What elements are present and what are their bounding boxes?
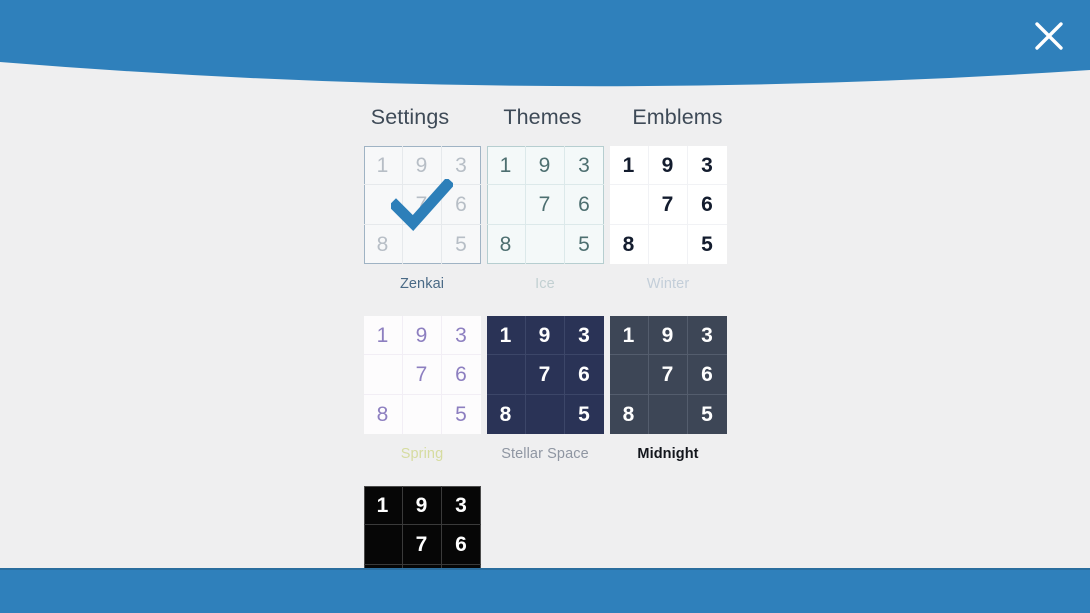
grid-cell: 1	[487, 146, 526, 185]
theme-option-stellar-space[interactable]: 1 9 3 7 6 8 5 Stellar Space	[487, 316, 604, 462]
grid-cell: 5	[442, 395, 481, 434]
grid-cell: 6	[688, 355, 727, 394]
grid-cell: 5	[565, 225, 604, 264]
grid-cell	[610, 185, 649, 224]
theme-preview-grid[interactable]: 1 9 3 7 6 8 5	[610, 146, 727, 264]
grid-cell	[364, 525, 403, 564]
grid-cell	[487, 185, 526, 224]
grid-cell: 7	[403, 185, 442, 224]
theme-option-winter[interactable]: 1 9 3 7 6 8 5 Winter	[610, 146, 727, 292]
tab-settings[interactable]: Settings	[340, 105, 480, 130]
theme-option-midnight[interactable]: 1 9 3 7 6 8 5 Midnight	[610, 316, 727, 462]
grid-cell	[487, 355, 526, 394]
theme-picker-dialog: Settings Themes Emblems 1 9 3 7 6 8 5	[0, 0, 1090, 613]
theme-preview-grid[interactable]: 1 9 3 7 6 8 5	[487, 316, 604, 434]
grid-cell: 6	[442, 185, 481, 224]
grid-cell: 7	[403, 525, 442, 564]
tab-emblems[interactable]: Emblems	[605, 105, 750, 130]
grid-cell: 3	[688, 146, 727, 185]
grid-cell: 7	[649, 355, 688, 394]
grid-cell: 1	[364, 316, 403, 355]
grid-cell: 5	[442, 225, 481, 264]
grid-cell: 7	[526, 185, 565, 224]
dialog-header	[0, 0, 1090, 96]
grid-cell: 9	[649, 316, 688, 355]
grid-cell: 9	[526, 316, 565, 355]
theme-row: 1 9 3 7 6 8 5 Zenkai	[0, 146, 1090, 292]
grid-cell	[649, 225, 688, 264]
theme-option-ice[interactable]: 1 9 3 7 6 8 5 Ice	[487, 146, 604, 292]
grid-cell	[526, 395, 565, 434]
grid-cell: 6	[442, 525, 481, 564]
grid-cell: 7	[649, 185, 688, 224]
theme-label: Winter	[610, 276, 727, 292]
close-button[interactable]	[1029, 16, 1069, 56]
grid-cell: 5	[565, 395, 604, 434]
grid-cell: 9	[403, 486, 442, 525]
grid-cell: 9	[649, 146, 688, 185]
tab-themes[interactable]: Themes	[480, 105, 605, 130]
grid-cell	[403, 395, 442, 434]
grid-cell: 7	[403, 355, 442, 394]
theme-label: Ice	[487, 276, 604, 292]
theme-label: Midnight	[610, 446, 727, 462]
tab-bar: Settings Themes Emblems	[0, 105, 1090, 130]
grid-cell: 1	[364, 146, 403, 185]
grid-cell: 1	[364, 486, 403, 525]
grid-cell: 3	[565, 146, 604, 185]
grid-cell: 3	[565, 316, 604, 355]
theme-option-spring[interactable]: 1 9 3 7 6 8 5 Spring	[364, 316, 481, 462]
theme-preview-grid[interactable]: 1 9 3 7 6 8 5	[610, 316, 727, 434]
theme-label: Stellar Space	[487, 446, 604, 462]
grid-cell: 8	[487, 395, 526, 434]
theme-preview-grid[interactable]: 1 9 3 7 6 8 5	[364, 316, 481, 434]
grid-cell: 8	[487, 225, 526, 264]
themes-list: 1 9 3 7 6 8 5 Zenkai	[0, 146, 1090, 613]
theme-preview-grid[interactable]: 1 9 3 7 6 8 5	[487, 146, 604, 264]
grid-cell: 6	[688, 185, 727, 224]
grid-cell	[610, 355, 649, 394]
grid-cell: 8	[610, 395, 649, 434]
grid-cell: 3	[442, 486, 481, 525]
grid-cell: 1	[610, 316, 649, 355]
grid-cell: 5	[688, 395, 727, 434]
theme-preview-grid[interactable]: 1 9 3 7 6 8 5	[364, 146, 481, 264]
grid-cell: 3	[442, 146, 481, 185]
header-curve-shape	[0, 0, 1090, 96]
grid-cell	[364, 185, 403, 224]
close-icon	[1029, 16, 1069, 56]
theme-row: 1 9 3 7 6 8 5 Spring 1 9 3	[0, 316, 1090, 462]
grid-cell: 3	[442, 316, 481, 355]
grid-cell: 9	[526, 146, 565, 185]
grid-cell	[649, 395, 688, 434]
grid-cell: 8	[364, 225, 403, 264]
theme-option-zenkai[interactable]: 1 9 3 7 6 8 5 Zenkai	[364, 146, 481, 292]
theme-label: Spring	[364, 446, 481, 462]
grid-cell: 7	[526, 355, 565, 394]
bottom-bar	[0, 568, 1090, 613]
theme-label: Zenkai	[364, 276, 481, 292]
grid-cell: 3	[688, 316, 727, 355]
grid-cell: 8	[364, 395, 403, 434]
grid-cell: 9	[403, 316, 442, 355]
grid-cell: 5	[688, 225, 727, 264]
grid-cell	[364, 355, 403, 394]
grid-cell: 6	[442, 355, 481, 394]
grid-cell: 6	[565, 355, 604, 394]
grid-cell: 9	[403, 146, 442, 185]
grid-cell	[526, 225, 565, 264]
grid-cell	[403, 225, 442, 264]
grid-cell: 8	[610, 225, 649, 264]
grid-cell: 1	[487, 316, 526, 355]
grid-cell: 1	[610, 146, 649, 185]
grid-cell: 6	[565, 185, 604, 224]
